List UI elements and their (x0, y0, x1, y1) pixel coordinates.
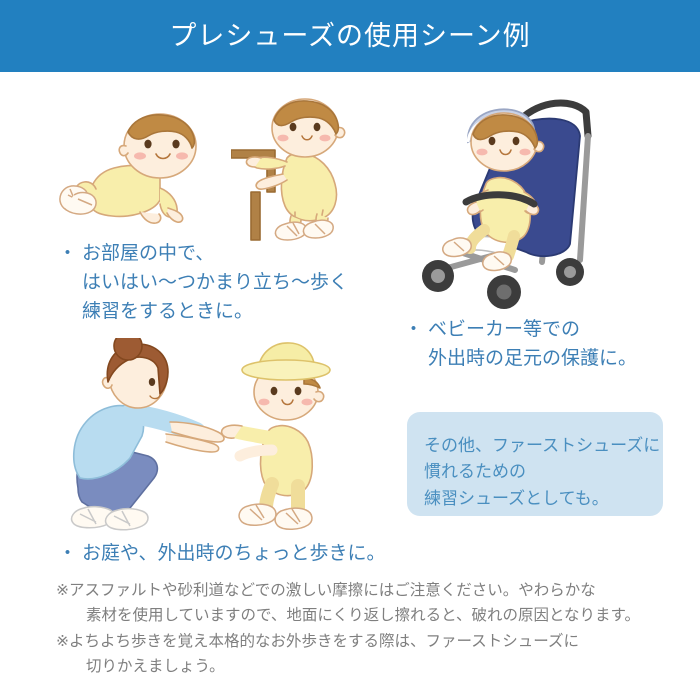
header-banner: プレシューズの使用シーン例 (0, 0, 700, 72)
footnote-2-body: よちよち歩きを覚え本格的なお外歩きをする際は、ファーストシューズに 切りかえまし… (69, 629, 579, 679)
footnote-2-mark: ※ (56, 629, 69, 654)
bullet-room-line-3: 練習をするときに。 (82, 298, 348, 327)
bullet-room: ・ お部屋の中で、 はいはい〜つかまり立ち〜歩く 練習をするときに。 (58, 240, 348, 327)
infobox-line-2: 慣れるための (424, 459, 663, 485)
crawling-baby-illustration (56, 96, 256, 236)
bullet-garden: ・ お庭や、外出時のちょっと歩きに。 (58, 540, 385, 569)
bullet-marker-room: ・ (58, 240, 77, 269)
infobox-line-3: 練習シューズとしても。 (424, 486, 663, 512)
footnotes: ※ アスファルトや砂利道などでの激しい摩擦にはご注意ください。やわらかな 素材を… (56, 578, 676, 680)
footnote-1-line-2: 素材を使用していますので、地面にくり返し擦れると、破れの原因となります。 (69, 603, 640, 628)
footnote-2-line-2: 切りかえましょう。 (69, 654, 579, 679)
bullet-marker-stroller: ・ (404, 316, 423, 345)
bullet-stroller-line-2: 外出時の足元の保護に。 (428, 345, 637, 374)
footnote-1-body: アスファルトや砂利道などでの激しい摩擦にはご注意ください。やわらかな 素材を使用… (69, 578, 640, 628)
bullet-garden-lines: お庭や、外出時のちょっと歩きに。 (82, 540, 385, 569)
baby-pulling-up-on-table-illustration (231, 96, 391, 242)
footnote-1-mark: ※ (56, 578, 69, 603)
additional-use-infobox: その他、ファーストシューズに 慣れるための 練習シューズとしても。 (407, 412, 663, 516)
bullet-stroller: ・ ベビーカー等での 外出時の足元の保護に。 (404, 316, 637, 374)
bullet-room-line-2: はいはい〜つかまり立ち〜歩く (82, 269, 348, 298)
walking-toddler-with-hat-illustration (216, 338, 376, 540)
infographic-page: プレシューズの使用シーン例 (0, 0, 700, 700)
footnote-1: ※ アスファルトや砂利道などでの激しい摩擦にはご注意ください。やわらかな 素材を… (56, 578, 676, 628)
bullet-room-line-1: お部屋の中で、 (82, 240, 348, 269)
crouching-mother-illustration (60, 338, 242, 540)
infobox-line-1: その他、ファーストシューズに (424, 433, 663, 459)
baby-in-stroller-illustration (420, 84, 662, 316)
bullet-garden-line-1: お庭や、外出時のちょっと歩きに。 (82, 540, 385, 569)
footnote-2-line-1: よちよち歩きを覚え本格的なお外歩きをする際は、ファーストシューズに (69, 629, 579, 654)
bullet-stroller-line-1: ベビーカー等での (428, 316, 637, 345)
bullet-marker-garden: ・ (58, 540, 77, 569)
page-title: プレシューズの使用シーン例 (169, 23, 530, 50)
bullet-stroller-lines: ベビーカー等での 外出時の足元の保護に。 (428, 316, 637, 374)
bullet-room-lines: お部屋の中で、 はいはい〜つかまり立ち〜歩く 練習をするときに。 (82, 240, 348, 327)
footnote-1-line-1: アスファルトや砂利道などでの激しい摩擦にはご注意ください。やわらかな (69, 578, 640, 603)
footnote-2: ※ よちよち歩きを覚え本格的なお外歩きをする際は、ファーストシューズに 切りかえ… (56, 629, 676, 679)
